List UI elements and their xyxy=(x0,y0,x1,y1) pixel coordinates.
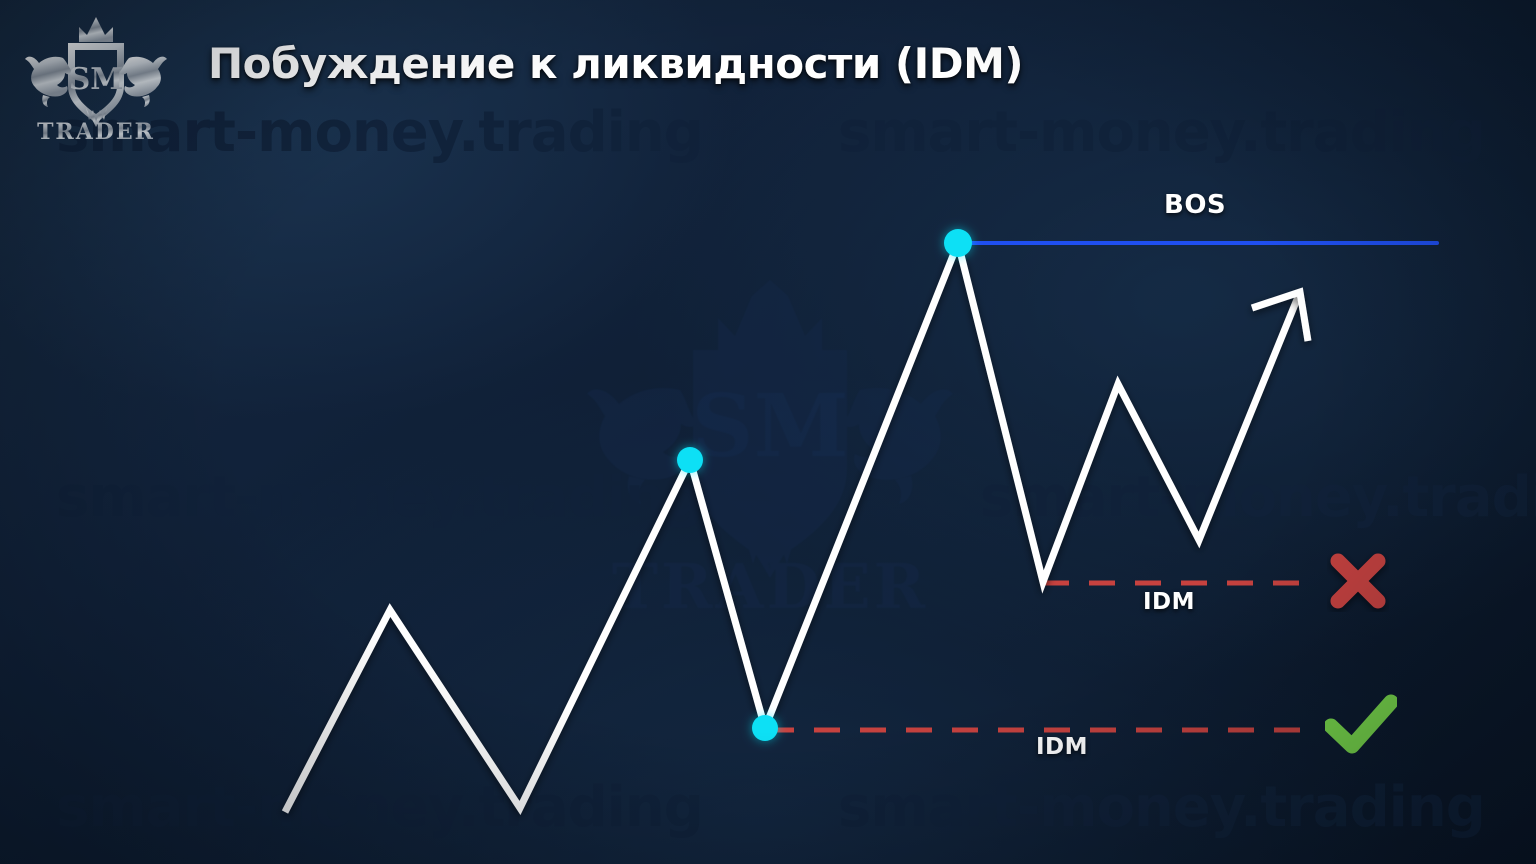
idm-label-top: IDM xyxy=(1143,589,1195,615)
sm-trader-logo-icon: SM TRADER xyxy=(22,12,172,142)
swing-low-dot-1 xyxy=(752,715,778,741)
swing-high-dot-2 xyxy=(944,229,972,257)
swing-high-dot-1 xyxy=(677,447,703,473)
price-action-chart xyxy=(0,0,1536,864)
logo-wordmark: TRADER xyxy=(37,119,155,142)
slide-canvas: SM TRADER smart-money.trading smart-mone… xyxy=(0,0,1536,864)
bos-label: BOS xyxy=(1164,190,1226,220)
idm-label-bottom: IDM xyxy=(1036,734,1088,760)
check-mark-icon xyxy=(1325,694,1397,756)
cross-mark-icon xyxy=(1327,550,1389,612)
logo-initials: SM xyxy=(69,62,124,97)
page-title: Побуждение к ликвидности (IDM) xyxy=(208,38,1023,90)
price-line xyxy=(285,243,1300,812)
